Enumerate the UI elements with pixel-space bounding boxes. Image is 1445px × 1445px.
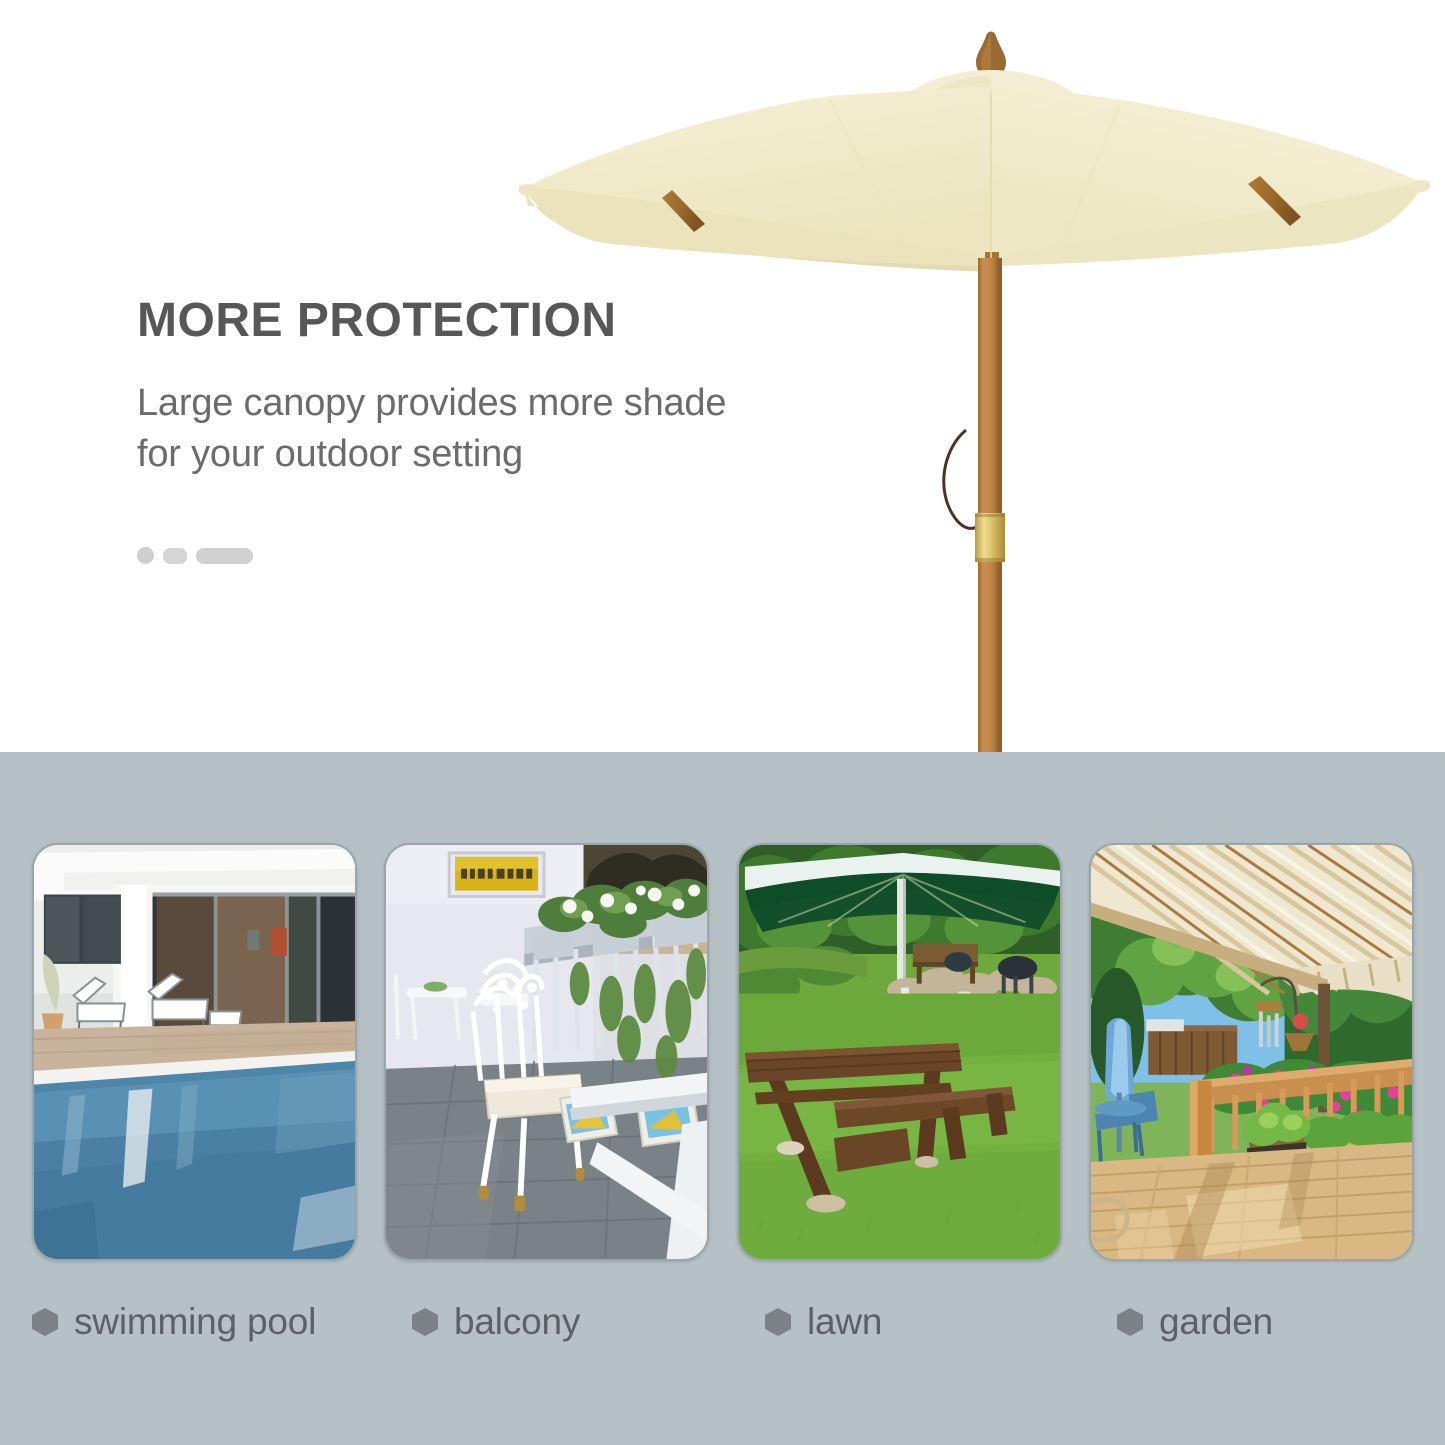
hexagon-bullet-icon	[32, 1308, 58, 1336]
label-text: balcony	[454, 1301, 580, 1343]
photo-swimming-pool	[34, 845, 355, 1259]
photo-lawn	[739, 845, 1060, 1259]
thumbnail-row	[0, 843, 1445, 1261]
label-swimming-pool: swimming pool	[32, 1294, 316, 1350]
hexagon-bullet-icon	[765, 1308, 791, 1336]
thumbnail-swimming-pool[interactable]	[32, 843, 357, 1261]
decorative-marks	[137, 547, 253, 564]
thumbnail-balcony[interactable]	[384, 843, 709, 1261]
label-text: lawn	[807, 1301, 882, 1343]
deco-pill-icon	[196, 548, 253, 564]
label-balcony: balcony	[412, 1294, 580, 1350]
label-text: garden	[1159, 1301, 1273, 1343]
page-title: MORE PROTECTION	[137, 296, 927, 346]
subcopy-line-1: Large canopy provides more shade	[137, 382, 726, 424]
subcopy-line-2: for your outdoor setting	[137, 429, 927, 480]
thumbnail-garden[interactable]	[1089, 843, 1414, 1261]
use-case-gallery: swimming pool balcony lawn garden	[0, 752, 1445, 1445]
hexagon-bullet-icon	[412, 1308, 438, 1336]
deco-dot-icon	[137, 547, 154, 564]
deco-square-icon	[163, 548, 187, 564]
photo-balcony	[386, 845, 707, 1259]
hero-section: MORE PROTECTION Large canopy provides mo…	[0, 0, 1445, 752]
thumbnail-labels: swimming pool balcony lawn garden	[0, 1294, 1445, 1364]
hexagon-bullet-icon	[1117, 1308, 1143, 1336]
label-lawn: lawn	[765, 1294, 882, 1350]
thumbnail-lawn[interactable]	[737, 843, 1062, 1261]
label-text: swimming pool	[74, 1301, 316, 1343]
hero-subcopy: Large canopy provides more shade for you…	[137, 378, 927, 479]
photo-garden	[1091, 845, 1412, 1259]
hero-copy: MORE PROTECTION Large canopy provides mo…	[137, 296, 927, 479]
label-garden: garden	[1117, 1294, 1273, 1350]
